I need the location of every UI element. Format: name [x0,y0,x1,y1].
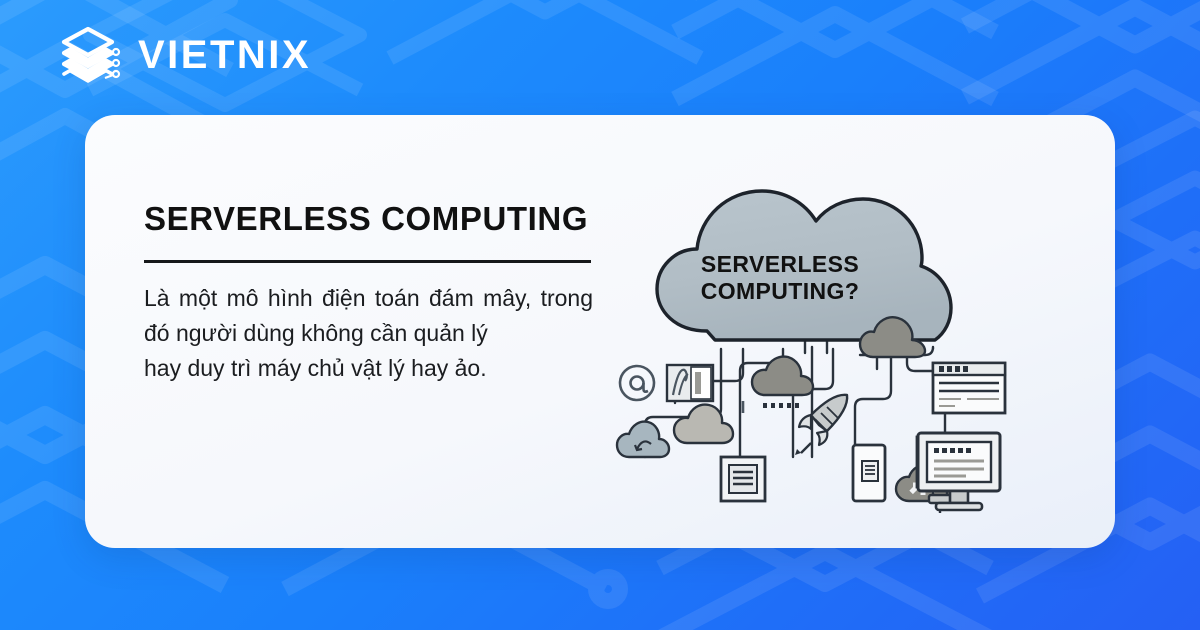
text-column: SERVERLESS COMPUTING Là một mô hình điện… [144,201,596,386]
browser-window-icon [933,363,1005,413]
serverless-illustration: SERVERLESS COMPUTING? [615,157,1010,527]
cloud-download-icon [617,422,669,457]
main-cloud-shape [657,191,951,340]
at-symbol-icon [620,366,654,400]
media-image-icon [667,365,713,401]
page-title: SERVERLESS COMPUTING [144,201,596,238]
description-line-3: hay duy trì máy chủ vật lý hay ảo. [144,351,593,386]
stacked-server-layers-icon [58,24,124,86]
poster-canvas: VIETNIX SERVERLESS COMPUTING Là một mô h… [0,0,1200,630]
brand-wordmark: VIETNIX [138,35,311,75]
rocket-icon [795,395,847,455]
mobile-phone-icon [853,445,885,501]
brand-logo[interactable]: VIETNIX [58,24,311,86]
description-line-1: Là một mô hình điện toán đám mây, [144,285,531,311]
content-card: SERVERLESS COMPUTING Là một mô hình điện… [85,115,1115,548]
desktop-monitor-icon [918,433,1000,510]
cloud-data-icon [752,357,813,408]
description-text: Là một mô hình điện toán đám mây, trong … [144,263,593,386]
document-list-icon [721,457,765,501]
cloud-plain-icon [674,401,743,443]
